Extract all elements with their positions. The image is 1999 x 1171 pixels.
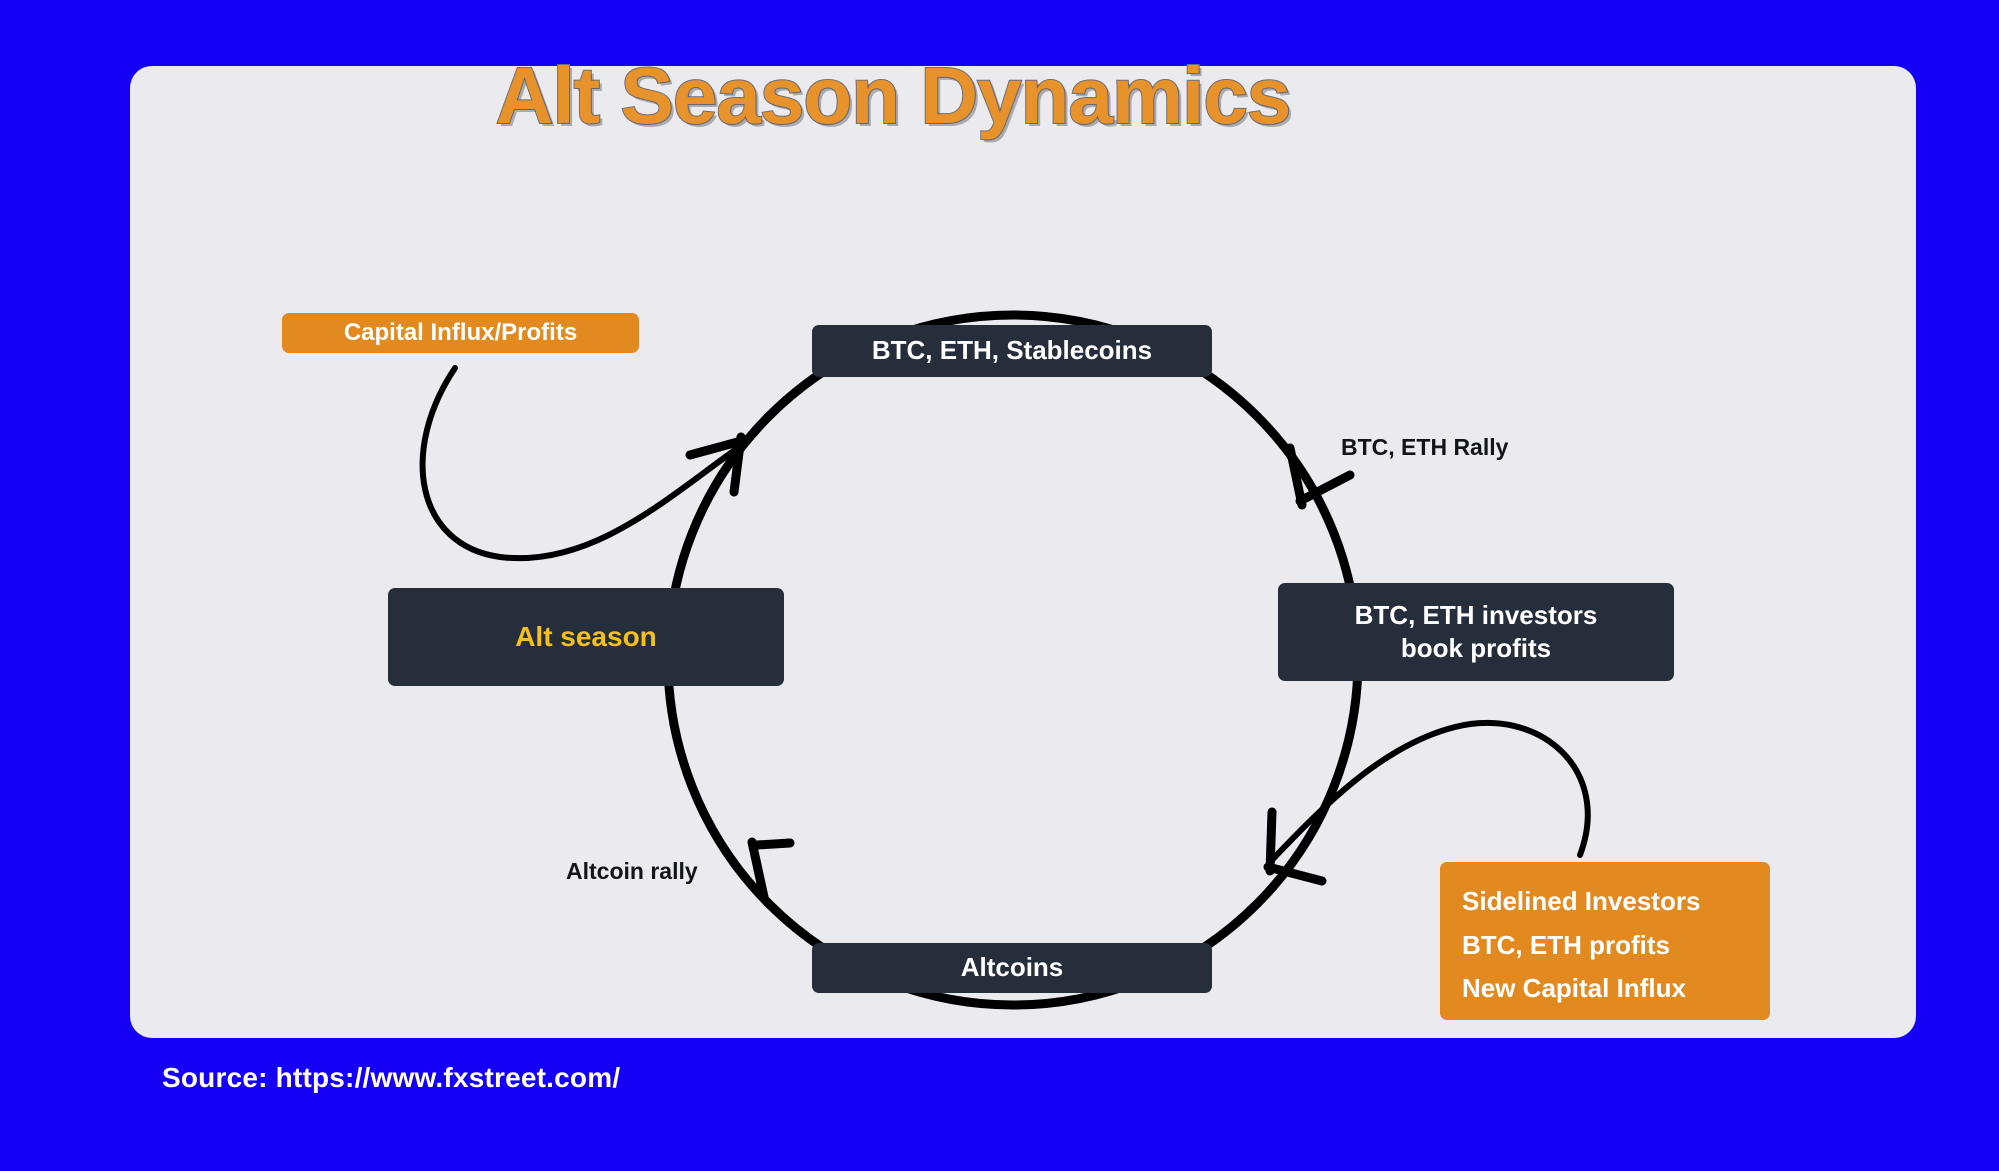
callout-sidelined-line2: BTC, ETH profits: [1462, 924, 1750, 968]
callout-sidelined-line3: New Capital Influx: [1462, 967, 1750, 1011]
edge-label-altcoin-rally: Altcoin rally: [566, 858, 698, 885]
callout-sidelined-line1: Sidelined Investors: [1462, 880, 1750, 924]
node-book-profits-text: BTC, ETH investors book profits: [1355, 599, 1598, 666]
node-altcoins[interactable]: Altcoins: [812, 943, 1212, 993]
node-book-profits-line2: book profits: [1401, 633, 1551, 663]
source-attribution: Source: https://www.fxstreet.com/: [162, 1062, 620, 1094]
node-alt-season[interactable]: Alt season: [388, 588, 784, 686]
edge-label-btc-eth-rally: BTC, ETH Rally: [1341, 434, 1508, 461]
node-book-profits-line1: BTC, ETH investors: [1355, 600, 1598, 630]
node-stablecoins[interactable]: BTC, ETH, Stablecoins: [812, 325, 1212, 377]
callout-capital-influx[interactable]: Capital Influx/Profits: [282, 313, 639, 353]
node-book-profits[interactable]: BTC, ETH investors book profits: [1278, 583, 1674, 681]
callout-sidelined-investors[interactable]: Sidelined Investors BTC, ETH profits New…: [1440, 862, 1770, 1020]
page-title: Alt Season Dynamics: [0, 50, 1786, 142]
